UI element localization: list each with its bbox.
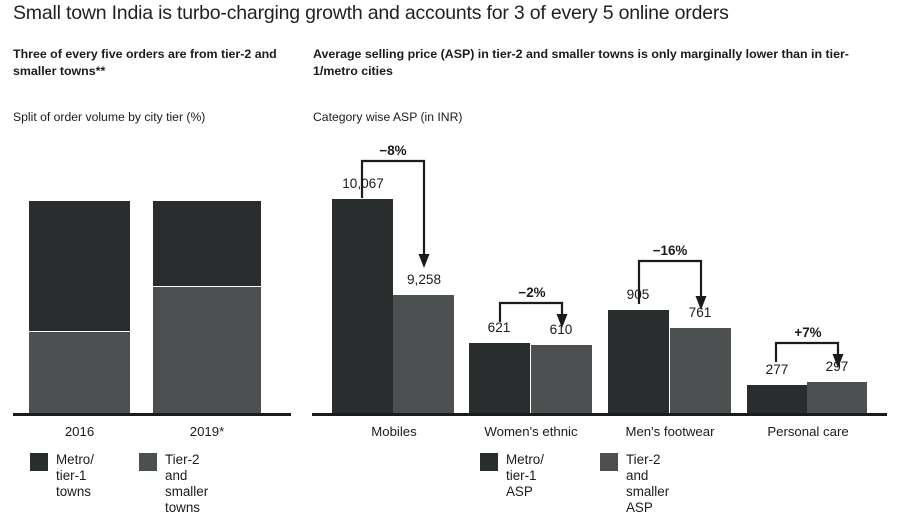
x-label-womens-ethnic: Women's ethnic xyxy=(470,424,592,439)
bar-2019-metro xyxy=(153,201,261,286)
annotation-bracket-personal-care-icon xyxy=(769,340,849,370)
infographic-root: Small town India is turbo-charging growt… xyxy=(0,0,900,491)
x-label-mens-footwear: Men's footwear xyxy=(609,424,731,439)
bar-mens-footwear-tier2 xyxy=(670,328,731,413)
legend-item-metro-towns: Metro/ tier-1 towns xyxy=(30,452,94,500)
x-label-2016: 2016 xyxy=(29,424,130,439)
legend-label-tier2-asp: Tier-2 and smaller ASP xyxy=(626,452,669,516)
legend-item-metro-asp: Metro/ tier-1 ASP xyxy=(480,452,544,500)
annotation-bracket-womens-ethnic-icon xyxy=(493,300,573,330)
bar-womens-ethnic-metro xyxy=(469,343,530,413)
value-mobiles-tier2: 9,258 xyxy=(385,272,463,287)
bar-2016-tier2 xyxy=(29,332,130,413)
legend-item-tier2-towns: Tier-2 and smaller towns xyxy=(139,452,208,516)
bar-2016-metro xyxy=(29,201,130,331)
chart-order-volume-split: Three of every five orders are from tier… xyxy=(0,0,300,491)
left-panel-axis-note: Split of order volume by city tier (%) xyxy=(13,110,205,124)
x-label-mobiles: Mobiles xyxy=(333,424,455,439)
legend-swatch-dark-icon xyxy=(30,453,48,471)
legend-label-metro-asp: Metro/ tier-1 ASP xyxy=(506,452,544,500)
bar-2019-tier2 xyxy=(153,287,261,413)
annotation-bracket-mobiles-icon xyxy=(355,158,435,270)
annotation-label-womens-ethnic: −2% xyxy=(486,285,578,300)
bar-mens-footwear-metro xyxy=(608,310,669,413)
annotation-label-mens-footwear: −16% xyxy=(624,243,716,258)
legend-swatch-grey-icon xyxy=(600,453,618,471)
legend-swatch-dark-icon xyxy=(480,453,498,471)
left-chart-axis xyxy=(13,413,291,416)
chart-category-wise-asp: Average selling price (ASP) in tier-2 an… xyxy=(300,0,900,491)
legend-item-tier2-asp: Tier-2 and smaller ASP xyxy=(600,452,669,516)
bar-mobiles-tier2 xyxy=(393,295,454,413)
right-panel-subtitle: Average selling price (ASP) in tier-2 an… xyxy=(313,46,888,80)
legend-swatch-grey-icon xyxy=(139,453,157,471)
right-panel-axis-note: Category wise ASP (in INR) xyxy=(313,110,462,124)
legend-label-metro-towns: Metro/ tier-1 towns xyxy=(56,452,94,500)
annotation-bracket-mens-footwear-icon xyxy=(632,258,712,312)
bar-womens-ethnic-tier2 xyxy=(531,345,592,413)
annotation-label-personal-care: +7% xyxy=(762,325,854,340)
right-chart-axis xyxy=(312,413,887,416)
legend-label-tier2-towns: Tier-2 and smaller towns xyxy=(165,452,208,516)
annotation-label-mobiles: −8% xyxy=(347,143,439,158)
left-panel-subtitle: Three of every five orders are from tier… xyxy=(13,46,293,80)
x-label-2019: 2019* xyxy=(153,424,261,439)
bar-personal-care-tier2 xyxy=(807,382,867,413)
x-label-personal-care: Personal care xyxy=(747,424,869,439)
bar-personal-care-metro xyxy=(747,385,807,413)
